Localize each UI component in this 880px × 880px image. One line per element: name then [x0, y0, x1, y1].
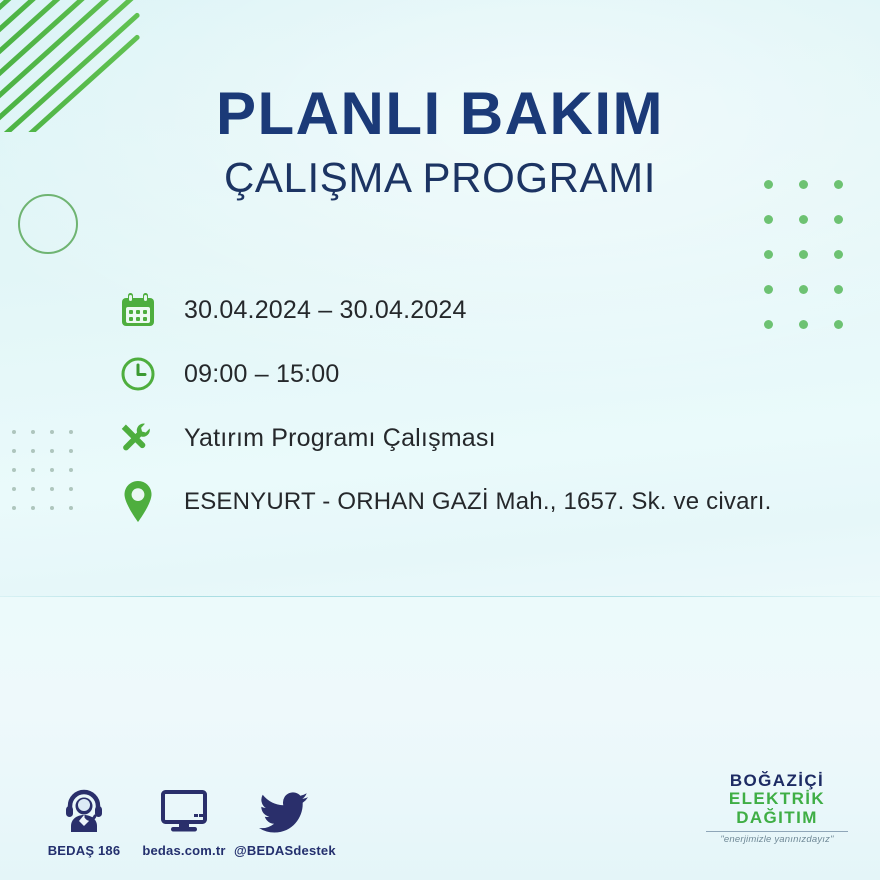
dot-grid-left-decoration	[12, 430, 88, 525]
detail-row-date: 30.04.2024 – 30.04.2024	[118, 278, 878, 342]
detail-location-value: ESENYURT - ORHAN GAZİ Mah., 1657. Sk. ve…	[184, 488, 772, 516]
contact-twitter[interactable]: @BEDASdestek	[234, 786, 334, 858]
page-subtitle: ÇALIŞMA PROGRAMI	[0, 157, 880, 199]
contact-phone[interactable]: BEDAŞ 186	[34, 786, 134, 858]
tools-icon	[118, 418, 184, 458]
monitor-icon	[134, 786, 234, 834]
detail-row-worktype: Yatırım Programı Çalışması	[118, 406, 878, 470]
section-divider	[0, 596, 880, 597]
detail-row-time: 09:00 – 15:00	[118, 342, 878, 406]
detail-time-value: 09:00 – 15:00	[184, 360, 340, 389]
page-title-block: PLANLI BAKIM ÇALIŞMA PROGRAMI	[0, 84, 880, 199]
page-title: PLANLI BAKIM	[0, 84, 880, 144]
logo-line-3: DAĞITIM	[696, 809, 858, 827]
logo-divider	[706, 831, 848, 832]
calendar-icon	[118, 290, 184, 330]
maintenance-details: 30.04.2024 – 30.04.2024 09:00 – 15:00	[118, 278, 878, 534]
contact-twitter-label: @BEDASdestek	[234, 843, 334, 858]
contact-channels: BEDAŞ 186 bedas.com.tr @BEDASdestek	[34, 786, 334, 858]
logo-line-2: ELEKTRİK	[696, 790, 858, 808]
logo-line-1: BOĞAZİÇİ	[696, 772, 858, 790]
planned-maintenance-poster: PLANLI BAKIM ÇALIŞMA PROGRAMI	[0, 0, 880, 880]
detail-date-value: 30.04.2024 – 30.04.2024	[184, 296, 467, 325]
logo-tagline: "enerjimizle yanınızdayız"	[696, 834, 858, 845]
contact-phone-label: BEDAŞ 186	[34, 843, 134, 858]
contact-website-label: bedas.com.tr	[134, 843, 234, 858]
detail-row-location: ESENYURT - ORHAN GAZİ Mah., 1657. Sk. ve…	[118, 470, 878, 534]
headset-support-icon	[34, 786, 134, 834]
clock-icon	[118, 354, 184, 394]
detail-worktype-value: Yatırım Programı Çalışması	[184, 424, 496, 453]
contact-website[interactable]: bedas.com.tr	[134, 786, 234, 858]
location-pin-icon	[118, 479, 184, 525]
circle-outline-decoration	[18, 194, 78, 254]
twitter-bird-icon	[234, 786, 334, 834]
bedas-logo: BOĞAZİÇİ ELEKTRİK DAĞITIM "enerjimizle y…	[696, 772, 858, 845]
